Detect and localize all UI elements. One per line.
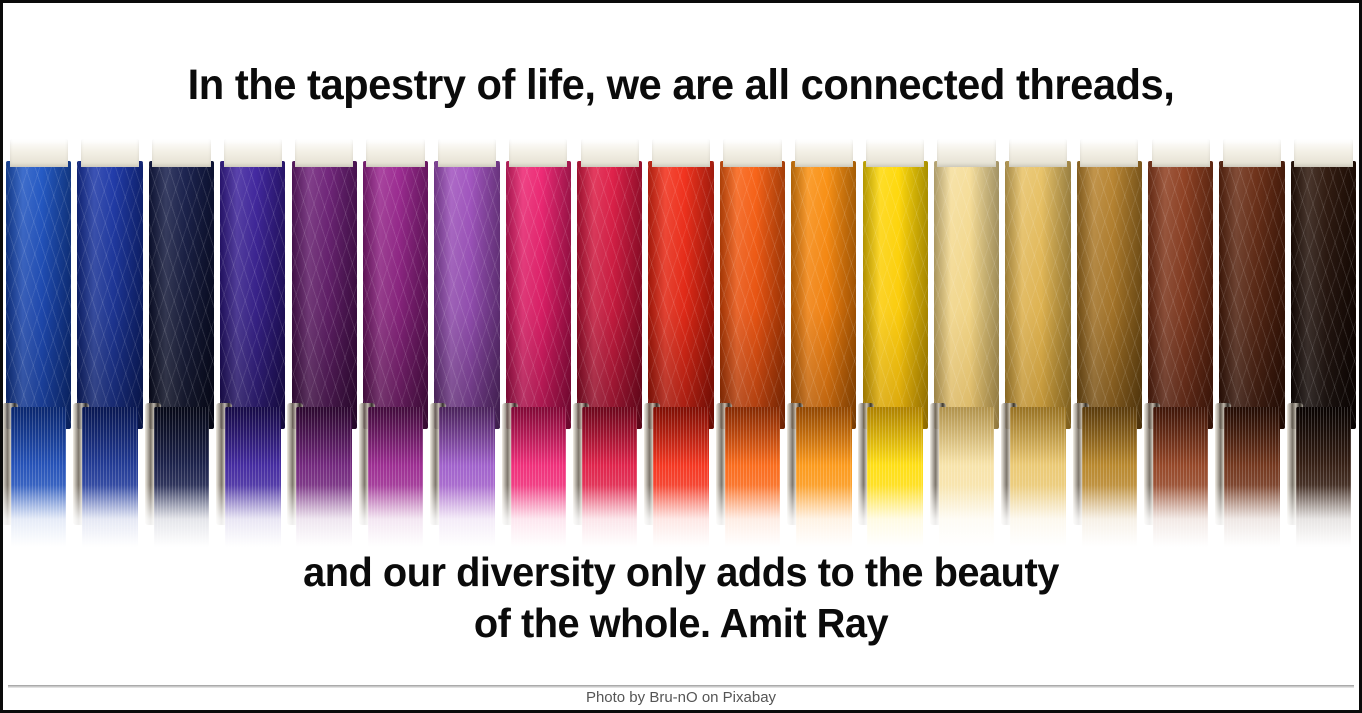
spool-thread-barrel — [6, 161, 71, 429]
spool-shading — [648, 161, 713, 429]
spool-black-edge — [1289, 135, 1358, 547]
spool-shading — [77, 161, 142, 429]
spool-shading — [1005, 161, 1070, 429]
spool-thread-barrel — [363, 161, 428, 429]
spool-thread-barrel — [506, 161, 571, 429]
spool-blue-royal — [75, 135, 144, 547]
spool-thread-barrel — [934, 161, 999, 429]
spool-bobbin — [296, 407, 352, 547]
spool-thread-barrel — [434, 161, 499, 429]
spool-bobbin — [154, 407, 210, 547]
spool-crimson — [575, 135, 644, 547]
spool-pink-hot — [504, 135, 573, 547]
spool-bobbin — [1082, 407, 1138, 547]
spool-thread-barrel — [863, 161, 928, 429]
spool-shading — [1219, 161, 1284, 429]
thread-spools-photo — [3, 135, 1359, 547]
spool-shading — [434, 161, 499, 429]
spool-yellow — [861, 135, 930, 547]
spool-bobbin — [796, 407, 852, 547]
quote-slide: In the tapestry of life, we are all conn… — [0, 0, 1362, 713]
spool-shading — [1077, 161, 1142, 429]
spool-cap — [224, 139, 282, 167]
spool-shading — [149, 161, 214, 429]
spool-row — [3, 135, 1359, 547]
quote-line-3: of the whole. Amit Ray — [23, 600, 1338, 647]
spool-shading — [577, 161, 642, 429]
spool-shading — [720, 161, 785, 429]
spool-shading — [934, 161, 999, 429]
spool-thread-barrel — [577, 161, 642, 429]
quote-line-1: In the tapestry of life, we are all conn… — [23, 61, 1338, 110]
caption-divider — [8, 685, 1354, 688]
spool-cap — [366, 139, 424, 167]
spool-thread-barrel — [1219, 161, 1284, 429]
spool-gold-light — [1003, 135, 1072, 547]
spool-thread-barrel — [1148, 161, 1213, 429]
spool-shading — [6, 161, 71, 429]
spool-magenta — [361, 135, 430, 547]
spool-bobbin — [82, 407, 138, 547]
spool-blue-bright — [4, 135, 73, 547]
quote-line-2: and our diversity only adds to the beaut… — [23, 549, 1338, 596]
spool-bobbin — [11, 407, 67, 547]
spool-cream — [932, 135, 1001, 547]
spool-cap — [509, 139, 567, 167]
spool-cap — [795, 139, 853, 167]
spool-bobbin — [1153, 407, 1209, 547]
spool-orange — [789, 135, 858, 547]
spool-bobbin — [867, 407, 923, 547]
spool-cap — [723, 139, 781, 167]
spool-cap — [1223, 139, 1281, 167]
spool-shading — [791, 161, 856, 429]
spool-shading — [292, 161, 357, 429]
spool-bobbin — [1296, 407, 1352, 547]
spool-red — [646, 135, 715, 547]
spool-thread-barrel — [149, 161, 214, 429]
spool-bobbin — [225, 407, 281, 547]
spool-violet-deep — [290, 135, 359, 547]
spool-orchid — [432, 135, 501, 547]
spool-bobbin — [439, 407, 495, 547]
spool-thread-barrel — [791, 161, 856, 429]
spool-cap — [10, 139, 68, 167]
spool-bobbin — [1224, 407, 1280, 547]
spool-bobbin — [368, 407, 424, 547]
spool-orange-red — [718, 135, 787, 547]
spool-cap — [438, 139, 496, 167]
spool-cap — [866, 139, 924, 167]
spool-thread-barrel — [292, 161, 357, 429]
spool-bobbin — [725, 407, 781, 547]
spool-bobbin — [1010, 407, 1066, 547]
spool-brown-dark — [1217, 135, 1286, 547]
spool-thread-barrel — [648, 161, 713, 429]
spool-cap — [937, 139, 995, 167]
spool-thread-barrel — [77, 161, 142, 429]
spool-thread-barrel — [1005, 161, 1070, 429]
spool-cap — [581, 139, 639, 167]
spool-cap — [1009, 139, 1067, 167]
spool-cap — [81, 139, 139, 167]
spool-navy-dark — [147, 135, 216, 547]
spool-shading — [863, 161, 928, 429]
spool-bobbin — [582, 407, 638, 547]
spool-thread-barrel — [720, 161, 785, 429]
spool-cap — [652, 139, 710, 167]
spool-bobbin — [939, 407, 995, 547]
spool-indigo — [218, 135, 287, 547]
spool-bobbin — [653, 407, 709, 547]
spool-shading — [220, 161, 285, 429]
spool-bobbin — [511, 407, 567, 547]
spool-shading — [506, 161, 571, 429]
spool-shading — [1291, 161, 1356, 429]
photo-credit-caption: Photo by Bru-nO on Pixabay — [3, 689, 1359, 706]
spool-thread-barrel — [1077, 161, 1142, 429]
spool-thread-barrel — [1291, 161, 1356, 429]
spool-cap — [152, 139, 210, 167]
spool-cap — [295, 139, 353, 167]
spool-shading — [1148, 161, 1213, 429]
spool-cap — [1080, 139, 1138, 167]
spool-brown-rust — [1146, 135, 1215, 547]
spool-gold-dark — [1075, 135, 1144, 547]
spool-cap — [1294, 139, 1352, 167]
spool-thread-barrel — [220, 161, 285, 429]
spool-cap — [1152, 139, 1210, 167]
spool-shading — [363, 161, 428, 429]
